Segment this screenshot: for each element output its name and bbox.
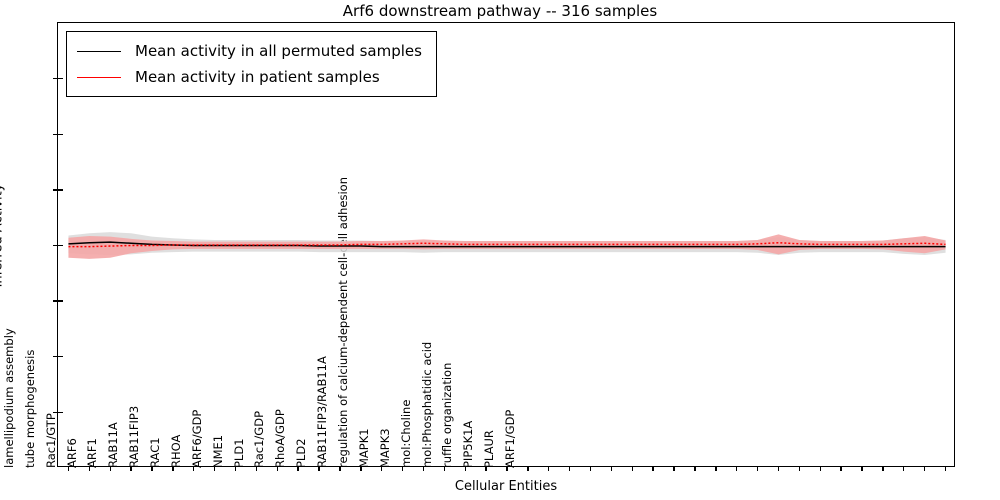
legend-label-permuted: Mean activity in all permuted samples xyxy=(135,42,422,60)
legend-item-patient: Mean activity in patient samples xyxy=(77,64,422,90)
legend-line-swatch-red xyxy=(77,77,121,78)
x-axis-label: Cellular Entities xyxy=(57,479,955,494)
legend: Mean activity in all permuted samples Me… xyxy=(66,31,437,97)
legend-label-patient: Mean activity in patient samples xyxy=(135,68,380,86)
plot-area: 43210−1−2−3−4 TIAM1regulation of axonoge… xyxy=(57,22,955,467)
chart-title: Arf6 downstream pathway -- 316 samples xyxy=(0,2,1000,20)
chart-canvas: Arf6 downstream pathway -- 316 samples I… xyxy=(0,0,1000,500)
legend-line-swatch-black xyxy=(77,51,121,52)
legend-item-permuted: Mean activity in all permuted samples xyxy=(77,38,422,64)
